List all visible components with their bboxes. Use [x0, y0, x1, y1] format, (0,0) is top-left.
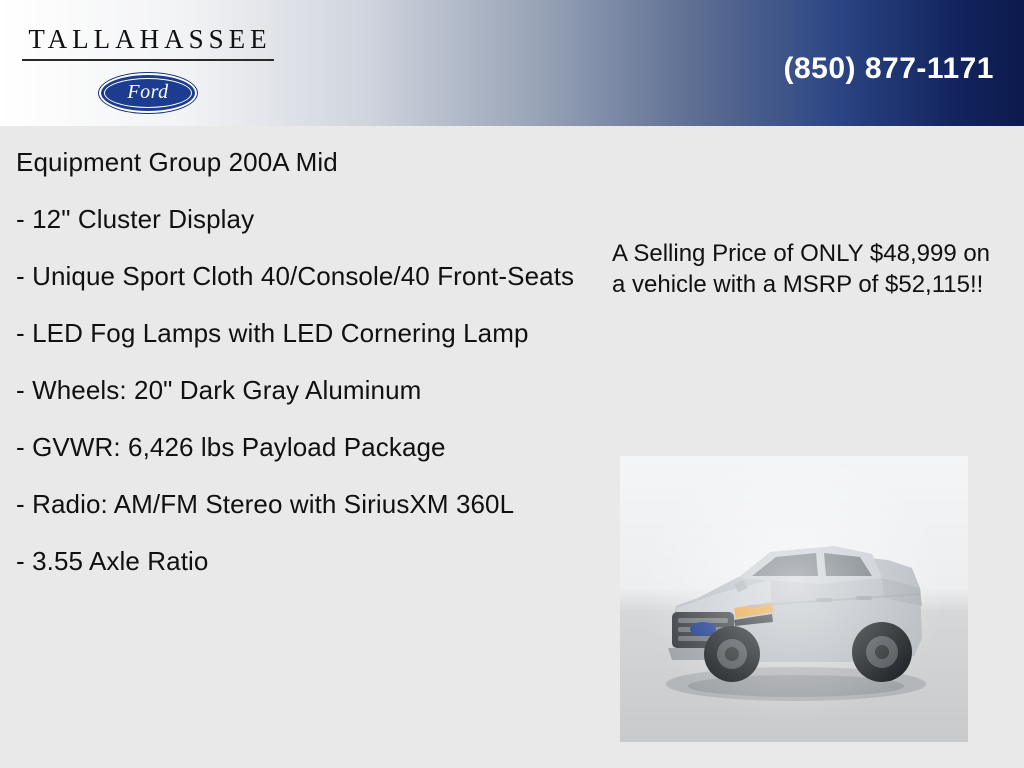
ford-logo-text: Ford — [101, 81, 195, 104]
photo-vignette — [620, 456, 968, 742]
header-banner: TALLAHASSEE Ford (850) 877-1171 — [0, 0, 1024, 126]
dealer-brand-block: TALLAHASSEE Ford — [22, 22, 274, 113]
flyer-page: TALLAHASSEE Ford (850) 877-1171 Equipmen… — [0, 0, 1024, 768]
brand-divider — [22, 59, 274, 61]
feature-item: - Wheels: 20" Dark Gray Aluminum — [16, 374, 586, 407]
dealer-name: TALLAHASSEE — [22, 22, 274, 56]
feature-item: - GVWR: 6,426 lbs Payload Package — [16, 431, 586, 464]
feature-item: - Radio: AM/FM Stereo with SiriusXM 360L — [16, 488, 586, 521]
features-list: Equipment Group 200A Mid - 12" Cluster D… — [16, 146, 586, 578]
ford-logo-icon: Ford — [99, 73, 197, 113]
content-area: Equipment Group 200A Mid - 12" Cluster D… — [0, 126, 1024, 768]
ford-f150-truck-photo — [620, 456, 968, 742]
feature-item: - 3.55 Axle Ratio — [16, 545, 586, 578]
phone-number[interactable]: (850) 877-1171 — [784, 52, 995, 86]
price-callout: A Selling Price of ONLY $48,999 on a veh… — [612, 238, 1004, 300]
equipment-group-title: Equipment Group 200A Mid — [16, 146, 586, 179]
feature-item: - Unique Sport Cloth 40/Console/40 Front… — [16, 260, 586, 293]
feature-item: - 12" Cluster Display — [16, 203, 586, 236]
feature-item: - LED Fog Lamps with LED Cornering Lamp — [16, 317, 586, 350]
